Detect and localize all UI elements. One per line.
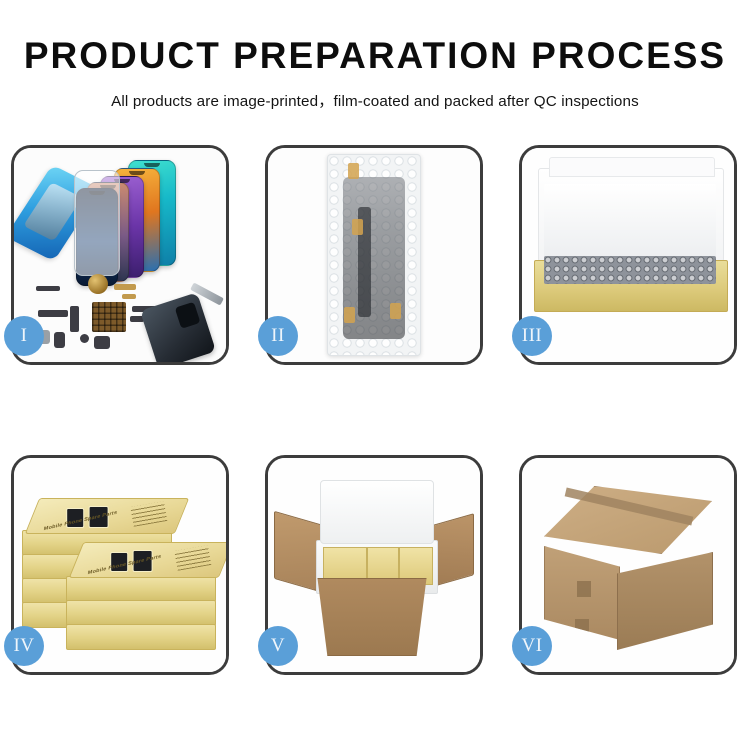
foam-box-lid <box>320 480 434 544</box>
step-panel-5: V <box>265 455 483 675</box>
part-camera-ring <box>80 334 89 343</box>
bubble-wrap-contents <box>544 256 716 284</box>
bubble-wrap-scene <box>268 148 480 362</box>
page-header: PRODUCT PREPARATION PROCESS All products… <box>0 0 750 111</box>
inner-box-scene <box>522 148 734 362</box>
step-panel-4: Mobile Phone Spare Parts Mobile Phone Sp… <box>11 455 229 675</box>
part-strip <box>36 286 60 291</box>
step-panel-2: II <box>265 145 483 365</box>
tempered-glass-panel <box>74 170 120 276</box>
stacked-box <box>66 576 216 602</box>
sealed-carton-scene <box>522 458 734 672</box>
step-2-image <box>268 148 480 362</box>
step-panel-6: VI <box>519 455 737 675</box>
process-step-grid: I II <box>11 145 739 675</box>
step-badge-4: IV <box>4 626 44 666</box>
step-1-image <box>14 148 226 362</box>
step-5-image <box>268 458 480 672</box>
tape-piece <box>348 163 359 179</box>
page-subtitle: All products are image-printed，film-coat… <box>0 89 750 111</box>
phone-back-housing <box>140 292 216 362</box>
carton-seal-mark <box>575 619 589 635</box>
page-title: PRODUCT PREPARATION PROCESS <box>0 36 750 77</box>
tape-piece <box>390 303 401 319</box>
carton-seal-mark <box>577 581 591 597</box>
phone-components-scene <box>14 148 226 362</box>
step-4-image: Mobile Phone Spare Parts Mobile Phone Sp… <box>14 458 226 672</box>
carton-left-face <box>544 546 620 640</box>
box-stack: Mobile Phone Spare Parts Mobile Phone Sp… <box>22 476 222 662</box>
foam-lid-top-edge <box>549 157 715 177</box>
foam-carton-scene <box>268 458 480 672</box>
step-badge-3: III <box>512 316 552 356</box>
step-6-image <box>522 458 734 672</box>
box-text-lines <box>174 545 211 571</box>
step-panel-1: I <box>11 145 229 365</box>
step-badge-2: II <box>258 316 298 356</box>
part-flex-cable <box>38 310 68 317</box>
step-badge-5: V <box>258 626 298 666</box>
tape-piece <box>352 219 363 235</box>
step-badge-1: I <box>4 316 44 356</box>
phone-notch-icon <box>144 163 160 167</box>
carton-right-face <box>617 552 713 650</box>
tape-piece <box>344 307 355 323</box>
step-3-image <box>522 148 734 362</box>
part-sim-tray <box>54 332 65 348</box>
logic-board-part <box>92 302 126 332</box>
part-connector <box>122 294 136 299</box>
part-speaker <box>94 336 110 349</box>
carton-front-wall <box>310 578 434 656</box>
spare-parts-cluster <box>36 276 226 362</box>
box-text-lines <box>130 501 167 527</box>
stacked-boxes-scene: Mobile Phone Spare Parts Mobile Phone Sp… <box>14 458 226 672</box>
taptic-engine-part <box>88 274 108 294</box>
bubble-wrap-bag <box>327 154 421 356</box>
part-connector <box>114 284 136 290</box>
step-panel-3: III <box>519 145 737 365</box>
step-badge-6: VI <box>512 626 552 666</box>
stacked-box <box>66 624 216 650</box>
part-flex-cable <box>70 306 79 332</box>
stacked-box <box>66 600 216 626</box>
foam-sheet <box>544 184 716 260</box>
phone-notch-icon <box>129 171 145 175</box>
